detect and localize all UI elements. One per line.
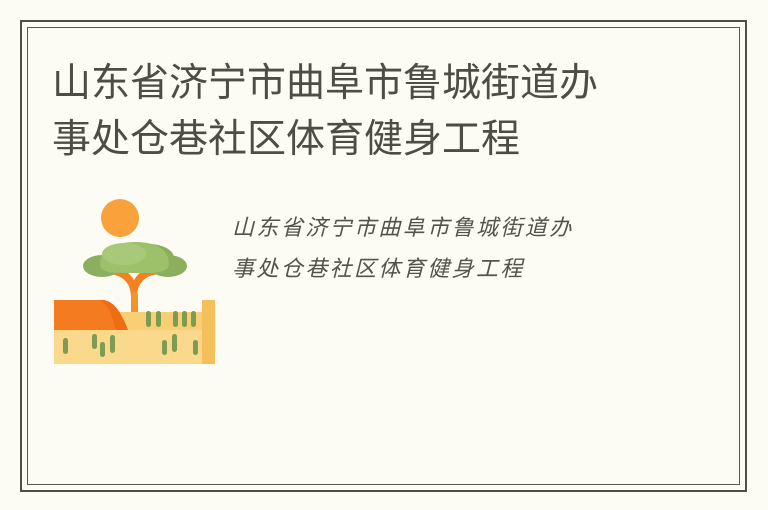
caption-line-2: 事处仓巷社区体育健身工程 bbox=[232, 249, 702, 290]
tree-canopy-icon bbox=[83, 242, 187, 277]
caption-text: 山东省济宁市曲阜市鲁城街道办 事处仓巷社区体育健身工程 bbox=[232, 208, 702, 290]
illustration-svg bbox=[52, 192, 217, 372]
sun-icon bbox=[101, 199, 139, 237]
page-title-line-2: 事处仓巷社区体育健身工程 bbox=[52, 112, 692, 168]
content-row: 山东省济宁市曲阜市鲁城街道办 事处仓巷社区体育健身工程 bbox=[52, 192, 712, 382]
page-title-line-1: 山东省济宁市曲阜市鲁城街道办 bbox=[52, 56, 692, 112]
park-tree-sun-illustration bbox=[52, 192, 217, 372]
poster-card: 山东省济宁市曲阜市鲁城街道办 事处仓巷社区体育健身工程 bbox=[0, 0, 768, 510]
caption-line-1: 山东省济宁市曲阜市鲁城街道办 bbox=[232, 208, 702, 249]
page-title: 山东省济宁市曲阜市鲁城街道办 事处仓巷社区体育健身工程 bbox=[52, 56, 692, 168]
